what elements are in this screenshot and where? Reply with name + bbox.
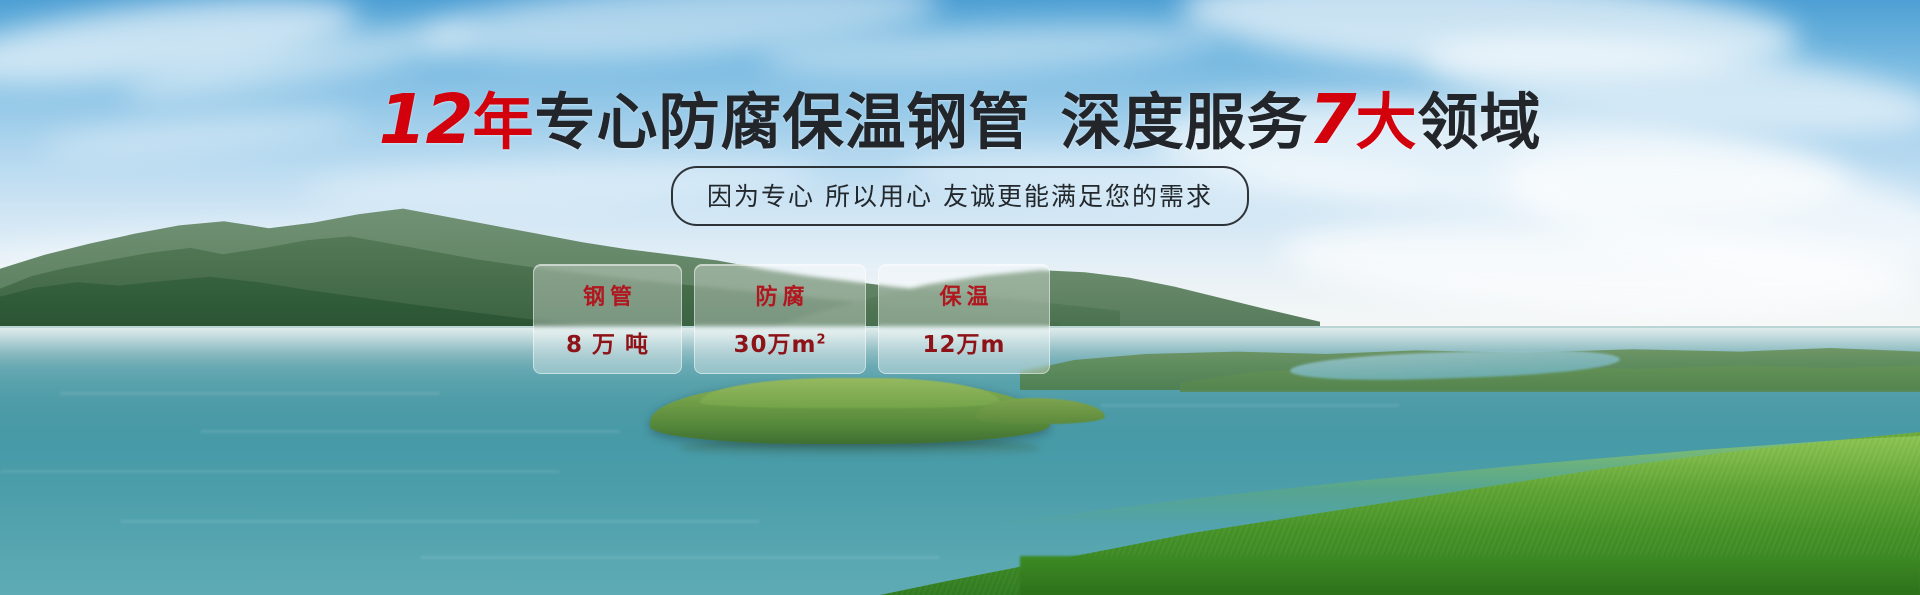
stat-cards: 钢管 8 万 吨 防腐 30万m2 保温 12万m: [533, 264, 1050, 374]
stat-card-anticorrosion: 防腐 30万m2: [694, 264, 866, 374]
stat-card-steel-pipe: 钢管 8 万 吨: [533, 264, 682, 374]
headline-fields-number: 7: [1309, 80, 1356, 160]
stat-card-title: 钢管: [578, 279, 637, 311]
headline-fields-suffix: 领域: [1418, 87, 1542, 158]
stat-card-value: 30万m2: [733, 325, 826, 359]
stat-card-insulation: 保温 12万m: [878, 264, 1050, 374]
stat-card-value: 8 万 吨: [566, 325, 649, 359]
stat-card-value-superscript: 2: [816, 332, 826, 347]
hero-banner: 12年专心防腐保温钢管深度服务7大领域 因为专心 所以用心 友诚更能满足您的需求…: [0, 0, 1920, 595]
stat-card-value: 12万m: [923, 325, 1006, 359]
headline-service-phrase: 深度服务: [1061, 87, 1309, 158]
headline-years-number: 12: [378, 80, 472, 160]
stat-card-title: 保温: [934, 279, 993, 311]
headline: 12年专心防腐保温钢管深度服务7大领域: [0, 86, 1920, 155]
headline-main-phrase: 专心防腐保温钢管: [534, 87, 1030, 158]
subtitle-pill: 因为专心 所以用心 友诚更能满足您的需求: [671, 166, 1249, 226]
headline-fields-unit: 大: [1356, 87, 1418, 158]
stat-card-title: 防腐: [750, 279, 809, 311]
stat-card-value-text: 30万m: [733, 332, 816, 358]
subtitle-container: 因为专心 所以用心 友诚更能满足您的需求: [0, 166, 1920, 226]
headline-years-unit: 年: [472, 87, 534, 158]
banner-content: 12年专心防腐保温钢管深度服务7大领域 因为专心 所以用心 友诚更能满足您的需求…: [0, 0, 1920, 595]
